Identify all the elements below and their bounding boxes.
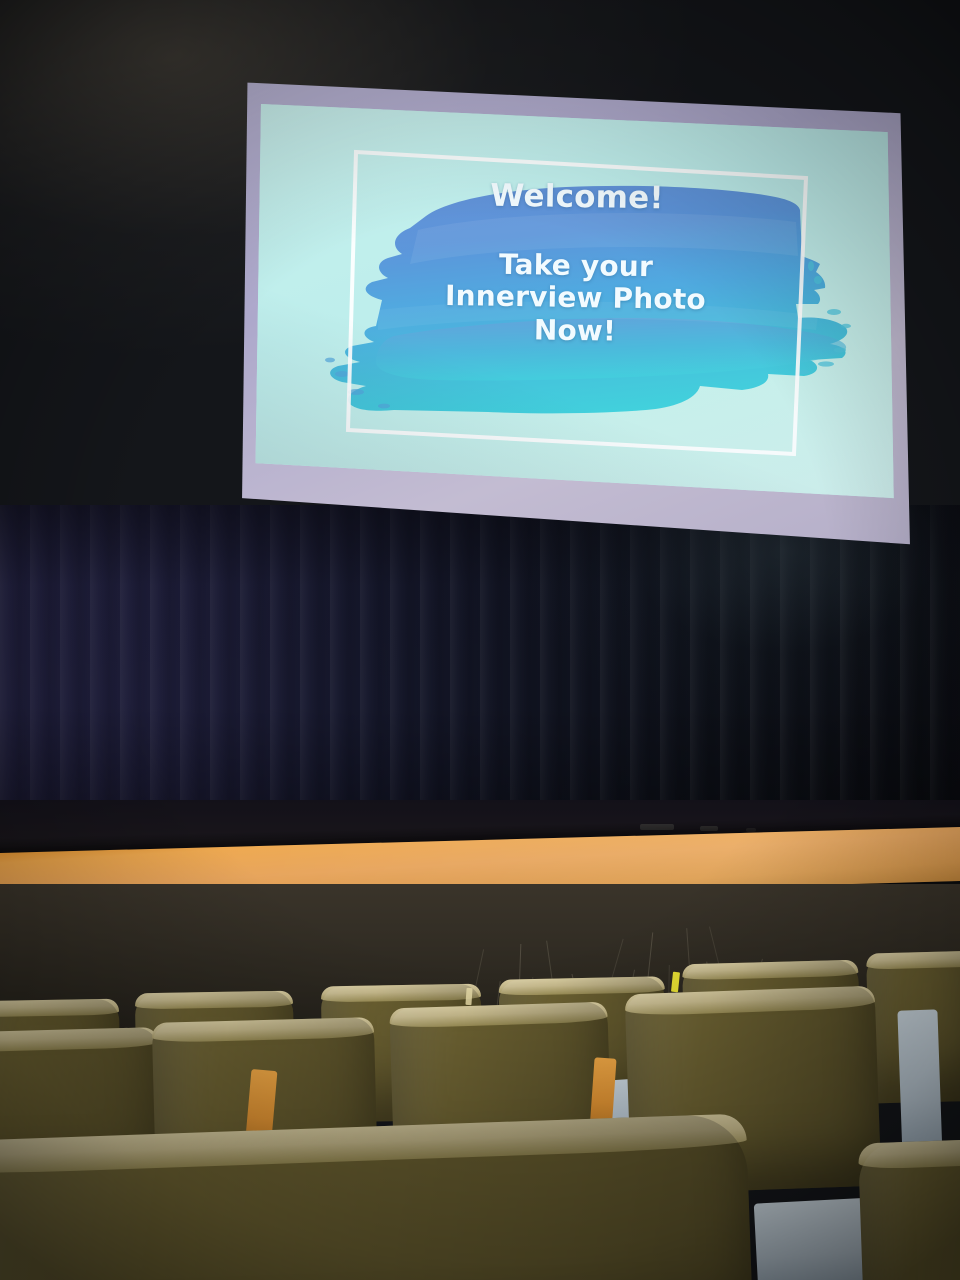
- slide-body-line-3: Now!: [365, 312, 785, 351]
- seat-front-2: [858, 1137, 960, 1280]
- slide-text-block: Welcome! Take your Innerview Photo Now!: [365, 177, 788, 351]
- seat-front-1: [0, 1113, 754, 1280]
- seat-bottom-panel: [897, 1009, 942, 1160]
- seat-shade: [0, 1113, 754, 1280]
- auditorium-scene: Welcome! Take your Innerview Photo Now!: [0, 0, 960, 1280]
- seat-row-tag: [465, 988, 472, 1005]
- projection-screen: Welcome! Take your Innerview Photo Now!: [238, 68, 914, 554]
- seat-shade: [858, 1137, 960, 1280]
